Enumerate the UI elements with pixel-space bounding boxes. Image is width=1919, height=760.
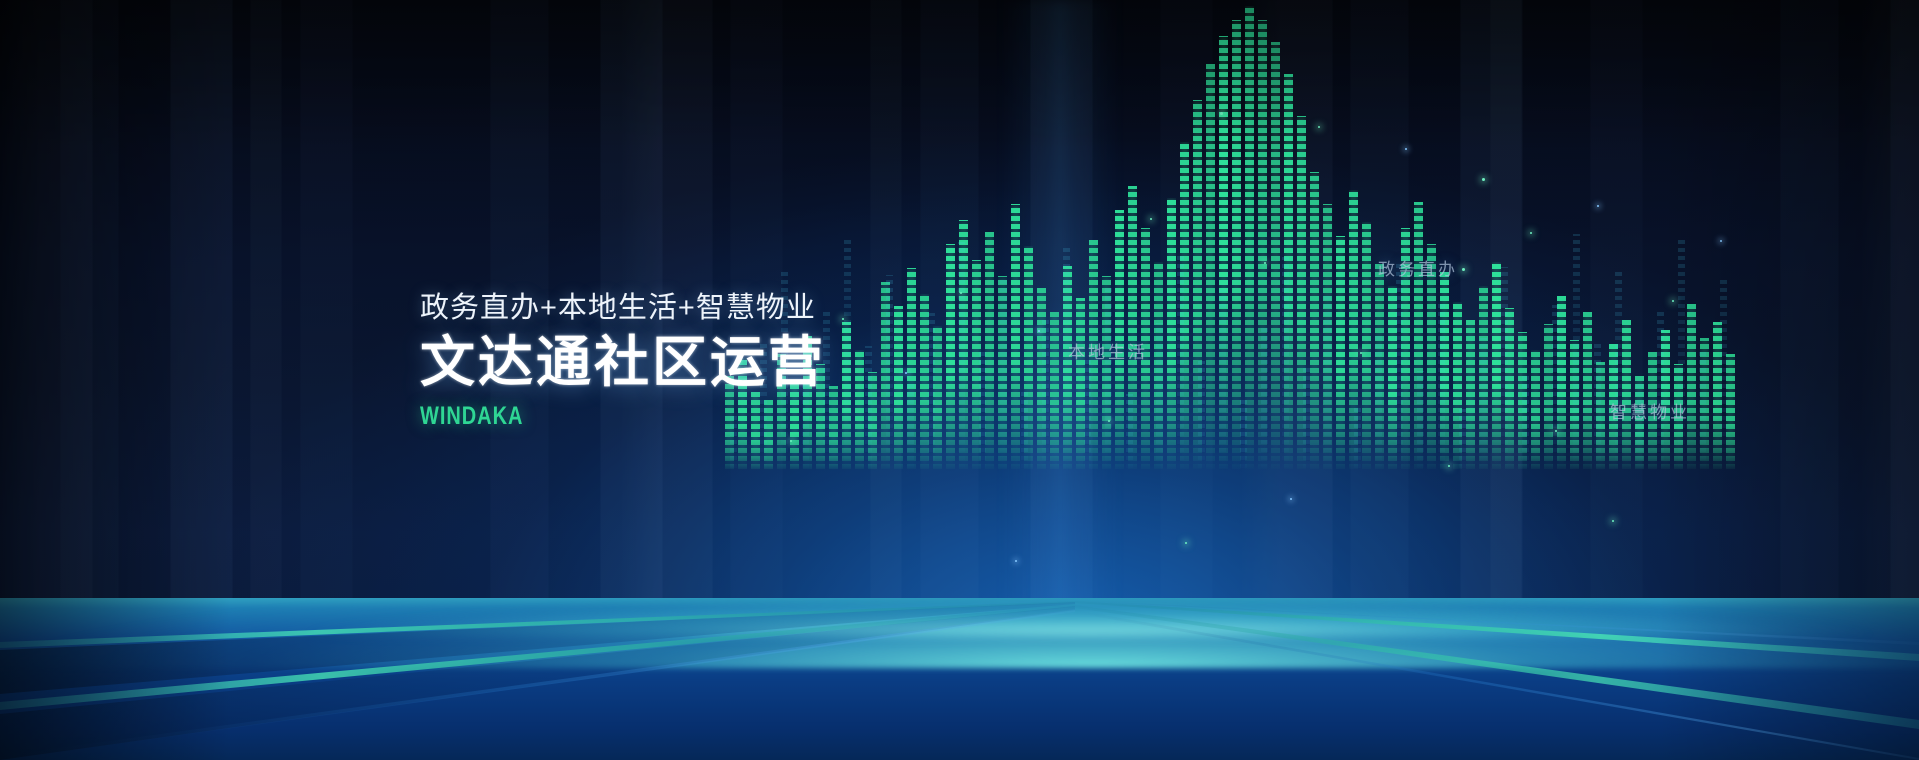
ground-plane (0, 598, 1919, 760)
skyline-tower (1011, 204, 1020, 472)
city-skyline-chart (0, 0, 1919, 620)
glow-particle (1555, 430, 1557, 432)
skyline-tower-distant (886, 275, 893, 472)
glow-particle (905, 372, 907, 374)
glow-particle (1220, 112, 1223, 115)
skyline-tower-distant (1522, 376, 1529, 472)
skyline-tower (855, 350, 864, 472)
glow-particle (1462, 268, 1465, 271)
glow-particle (1360, 352, 1362, 354)
skyline-tower-distant (1219, 290, 1226, 472)
glow-particle (1720, 240, 1722, 242)
skyline-tower-distant (865, 346, 872, 472)
skyline-tower-distant (1324, 295, 1331, 472)
skyline-tower-distant (1084, 356, 1091, 472)
skyline-tower (1726, 354, 1735, 472)
glow-particle (1612, 520, 1614, 522)
skyline-tower (1466, 320, 1475, 472)
skyline-tower-distant (1594, 343, 1601, 472)
skyline-tower-distant (928, 313, 935, 472)
glow-particle (790, 440, 792, 442)
skyline-tower-distant (1126, 394, 1133, 472)
skyline-tower-distant (1501, 267, 1508, 472)
skyline-tower (946, 244, 955, 472)
skyline-tower (1271, 42, 1280, 472)
skyline-tower-distant (1000, 280, 1007, 472)
skyline-tower-distant (1240, 399, 1247, 472)
skyline-tower (1531, 350, 1540, 472)
hero-text-block: 政务直办+本地生活+智慧物业 文达通社区运营 WINDAKA (420, 292, 826, 431)
glow-particle (1015, 560, 1017, 562)
glow-particle (1290, 498, 1292, 500)
skyline-tower (1336, 236, 1345, 472)
skyline-tower-distant (958, 242, 965, 472)
skyline-tower-distant (1282, 257, 1289, 472)
perspective-lines (0, 598, 1919, 760)
glow-particle (960, 292, 962, 294)
skyline-tower-distant (1615, 272, 1622, 472)
skyline-tower-distant (1720, 277, 1727, 472)
skyline-tower-distant (1261, 328, 1268, 472)
skyline-tower-distant (1438, 300, 1445, 472)
hero-subtitle: 政务直办+本地生活+智慧物业 (420, 292, 826, 325)
floating-label-smart-property: 智慧物业 (1610, 398, 1690, 423)
glow-particle (1108, 420, 1110, 422)
glow-particle (1185, 542, 1187, 544)
brand-wordmark: WINDAKA (420, 402, 745, 431)
skyline-tower (1167, 198, 1176, 472)
skyline-tower-distant (1678, 239, 1685, 472)
skyline-tower-distant (979, 351, 986, 472)
glow-particle (1264, 262, 1266, 264)
skyline-tower-distant (1396, 262, 1403, 472)
glow-particle (1150, 218, 1152, 220)
skyline-tower (1622, 320, 1631, 472)
skyline-tower (1492, 262, 1501, 472)
glow-particle (1405, 148, 1407, 150)
skyline-tower-distant (1021, 389, 1028, 472)
floating-label-government: 政务直办 (1378, 255, 1458, 280)
skyline-tower-distant (1657, 310, 1664, 472)
skyline-tower-distant (1552, 305, 1559, 472)
glow-particle (1597, 205, 1599, 207)
skyline-tower (1583, 312, 1592, 472)
skyline-tower-distant (1375, 333, 1382, 472)
skyline-tower-distant (1156, 323, 1163, 472)
skyline-tower-distant (1636, 381, 1643, 472)
hero-banner: 政务直办+本地生活+智慧物业 文达通社区运营 WINDAKA 政务直办 本地生活… (0, 0, 1919, 760)
glow-particle (1448, 465, 1450, 467)
skyline-tower (894, 306, 903, 472)
glow-particle (1482, 178, 1485, 181)
glow-particle (1530, 232, 1532, 234)
glow-particle (1318, 126, 1320, 128)
skyline-tower-distant (1198, 361, 1205, 472)
skyline-tower-distant (1354, 404, 1361, 472)
hero-headline: 文达通社区运营 (420, 332, 826, 394)
skyline-tower (985, 232, 994, 472)
skyline-tower-distant (844, 237, 851, 472)
skyline-tower-distant (1573, 234, 1580, 472)
skyline-tower (1050, 312, 1059, 472)
skyline-tower (1687, 304, 1696, 472)
glow-particle (842, 318, 844, 320)
skyline-tower-distant (1105, 285, 1112, 472)
skyline-tower (1362, 222, 1371, 472)
glow-particle (1672, 300, 1674, 302)
skyline-tower (829, 386, 838, 472)
skyline-tower-distant (1303, 366, 1310, 472)
floating-label-local-life: 本地生活 (1068, 338, 1148, 363)
skyline-tower-distant (1042, 318, 1049, 472)
glow-particle (1038, 330, 1040, 332)
skyline-tower-distant (1459, 409, 1466, 472)
skyline-tower-distant (1177, 252, 1184, 472)
skyline-tower-distant (1699, 348, 1706, 472)
skyline-tower-distant (907, 384, 914, 472)
skyline-tower-distant (1480, 338, 1487, 472)
skyline-tower (1310, 172, 1319, 472)
skyline-tower-distant (1417, 371, 1424, 472)
skyline-tower (1206, 64, 1215, 472)
